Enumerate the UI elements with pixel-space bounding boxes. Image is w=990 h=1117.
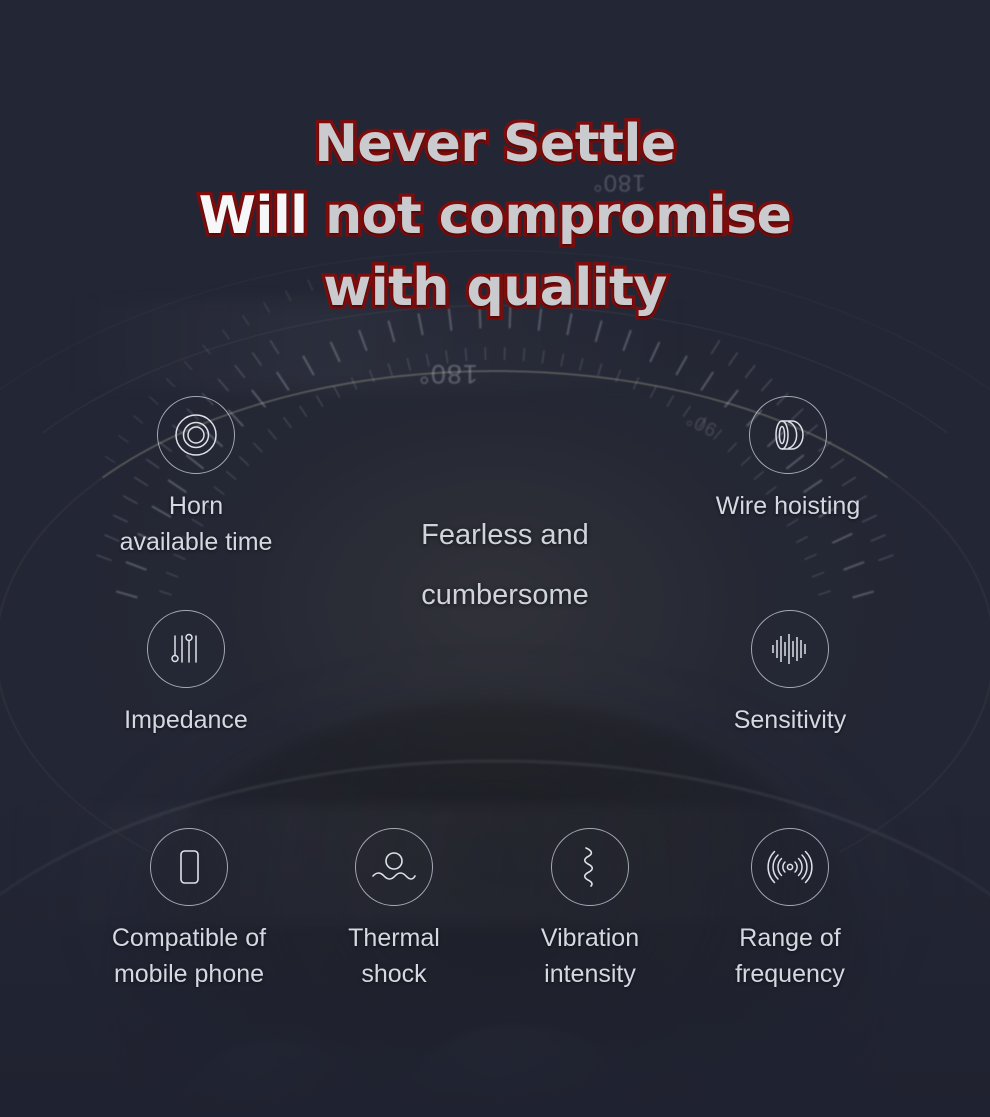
feature-sensitivity-icon-ring [751,610,829,688]
feature-wire-hoisting[interactable]: Wire hoisting [638,396,938,524]
feature-impedance-icon-ring [147,610,225,688]
feature-wire-icon-ring [749,396,827,474]
feature-frequency-icon-ring [751,828,829,906]
feature-impedance-label: Impedance [36,702,336,738]
feature-horn-label: Horn available time [46,488,346,560]
feature-impedance[interactable]: Impedance [36,610,336,738]
feature-sensitivity[interactable]: Sensitivity [640,610,940,738]
sun-over-waves-icon [369,845,419,889]
dial-degree-label-2: 180° [418,358,478,389]
concentric-circles-icon [173,412,219,458]
promo-banner: 180° 180° 90° Never Settle Will not comp… [0,0,990,1117]
headline-text-will: Will [199,186,325,246]
feature-horn[interactable]: Horn available time [46,396,346,560]
headline-text-with-quality: with quality [323,258,667,318]
feature-sensitivity-label: Sensitivity [640,702,940,738]
feature-phone-icon-ring [150,828,228,906]
radio-waves-icon [765,846,815,888]
center-tagline: Fearless and cumbersome [345,505,665,625]
feature-frequency-label: Range of frequency [640,920,940,992]
headline: Never Settle Will not compromise with qu… [0,108,990,324]
waveform-bars-icon [768,629,812,669]
equalizer-sliders-icon [166,629,206,669]
headline-line-3: with quality [0,252,990,324]
feature-wire-label: Wire hoisting [638,488,938,524]
wire-coil-icon [766,413,810,457]
headline-line-1: Never Settle [0,108,990,180]
headline-line-2: Will not compromise [0,180,990,252]
feature-frequency-range[interactable]: Range of frequency [640,828,940,992]
zigzag-wave-icon [573,844,607,890]
headline-text-never-settle: Never Settle [314,114,675,174]
headline-text-not-compromise: not compromise [325,186,791,246]
feature-vibration-icon-ring [551,828,629,906]
feature-horn-icon-ring [157,396,235,474]
feature-thermal-icon-ring [355,828,433,906]
background-object-left [170,1040,380,1117]
background-object-center [390,1025,660,1117]
background-object-right [600,1072,760,1117]
mobile-phone-icon [169,845,209,889]
